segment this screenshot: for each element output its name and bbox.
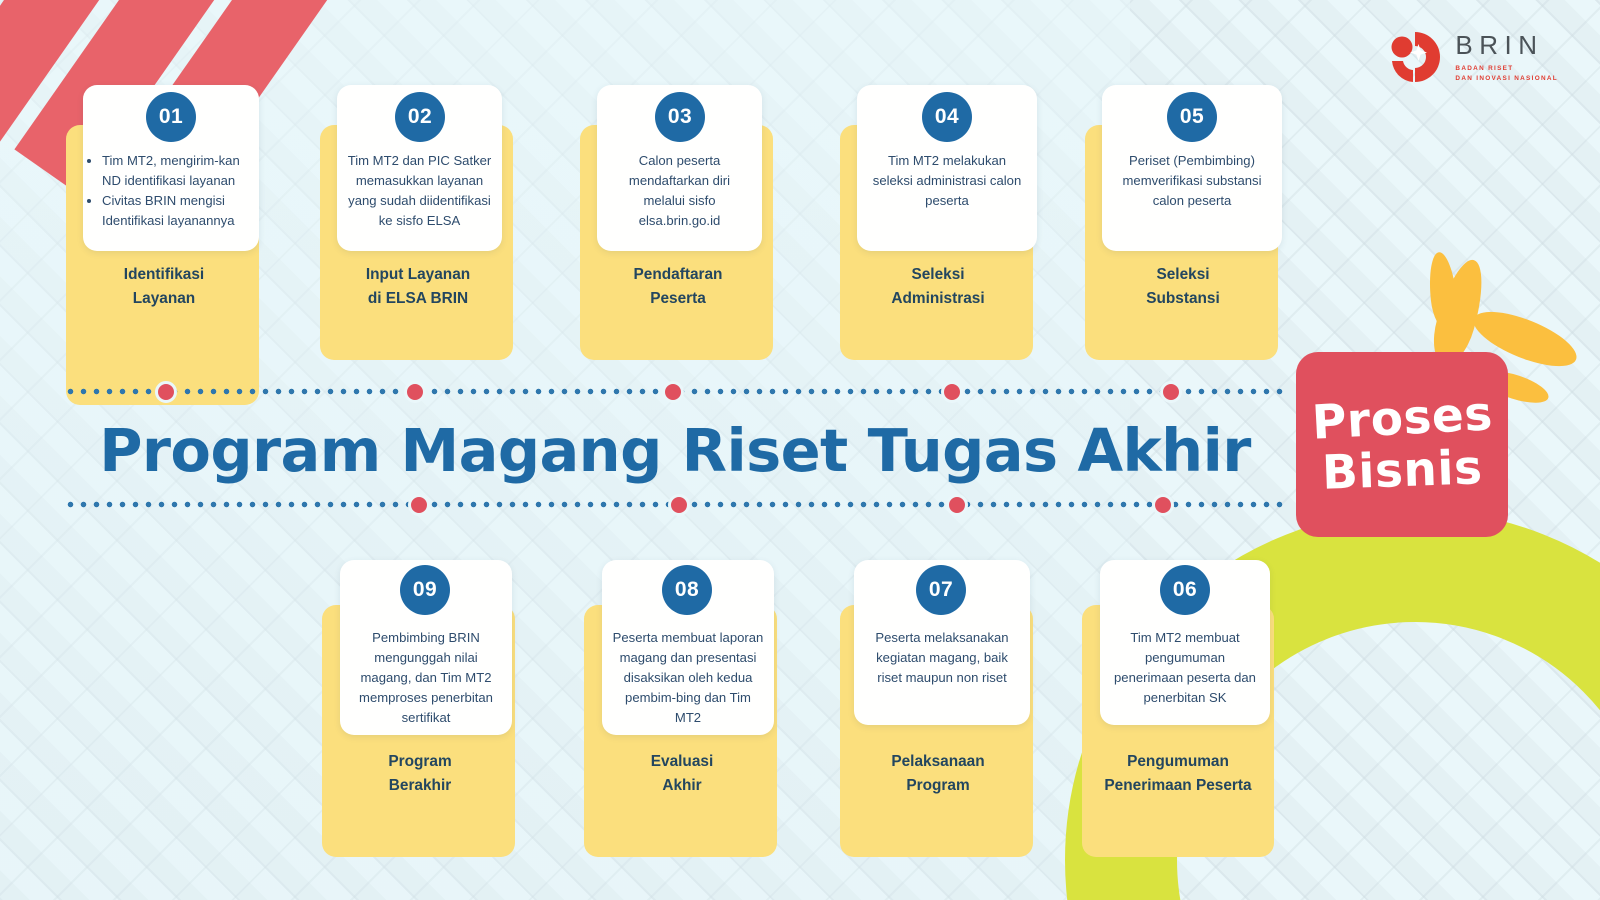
badge-line2: Bisnis (1321, 444, 1483, 498)
step-number-badge: 06 (1160, 565, 1210, 615)
step-title: Pendaftaran Peserta (580, 263, 776, 312)
step-description: Periset (Pembimbing) memverifikasi subst… (1102, 151, 1282, 211)
step-description: Tim MT2, mengirim-kan ND identifikasi la… (83, 151, 259, 231)
step-description: Peserta membuat laporan magang dan prese… (602, 628, 774, 727)
brin-tagline-line2: DAN INOVASI NASIONAL (1455, 74, 1558, 84)
step-title-line1: Program (322, 750, 518, 774)
step-title: Evaluasi Akhir (584, 750, 780, 799)
step-title-line1: Pelaksanaan (840, 750, 1036, 774)
step-title-line2: Penerimaan Peserta (1077, 774, 1279, 798)
step-description: Peserta melaksanakan kegiatan magang, ba… (854, 628, 1030, 688)
step-number-badge: 05 (1167, 92, 1217, 142)
step-description: Calon peserta mendaftarkan diri melalui … (597, 151, 762, 231)
main-title-wrapper: Program Magang Riset Tugas Akhir (60, 390, 1290, 500)
step-bullet: Tim MT2, mengirim-kan ND identifikasi la… (102, 151, 253, 191)
step-number-badge: 07 (916, 565, 966, 615)
step-description: Tim MT2 dan PIC Satker memasukkan layana… (337, 151, 502, 231)
brin-tagline-line1: BADAN RISET (1455, 64, 1558, 74)
step-number-badge: 01 (146, 92, 196, 142)
step-title-line2: Berakhir (322, 774, 518, 798)
step-description: Tim MT2 melakukan seleksi administrasi c… (857, 151, 1037, 211)
step-number-badge: 04 (922, 92, 972, 142)
step-bullet: Civitas BRIN mengisi Identifikasi layana… (102, 191, 253, 231)
step-title: Program Berakhir (322, 750, 518, 799)
step-number-badge: 03 (655, 92, 705, 142)
proses-bisnis-badge: Proses Bisnis (1296, 352, 1508, 537)
step-number-badge: 09 (400, 565, 450, 615)
step-title-line2: Program (840, 774, 1036, 798)
step-title: Seleksi Administrasi (840, 263, 1036, 312)
step-title: Pelaksanaan Program (840, 750, 1036, 799)
brin-logo: BRIN BADAN RISET DAN INOVASI NASIONAL (1388, 30, 1558, 84)
step-title-line2: Administrasi (840, 287, 1036, 311)
step-description: Tim MT2 membuat pengumuman penerimaan pe… (1100, 628, 1270, 708)
step-title-line2: di ELSA BRIN (320, 287, 516, 311)
step-title-line1: Identifikasi (66, 263, 262, 287)
step-title-line1: Pendaftaran (580, 263, 776, 287)
step-title: Identifikasi Layanan (66, 263, 262, 312)
step-number-badge: 02 (395, 92, 445, 142)
step-title-line1: Seleksi (1085, 263, 1281, 287)
step-title: Pengumuman Penerimaan Peserta (1077, 750, 1279, 799)
step-title-line1: Pengumuman (1077, 750, 1279, 774)
step-title: Input Layanan di ELSA BRIN (320, 263, 516, 312)
step-title-line2: Substansi (1085, 287, 1281, 311)
step-title: Seleksi Substansi (1085, 263, 1281, 312)
brin-mark-icon (1388, 30, 1442, 84)
brin-wordmark: BRIN BADAN RISET DAN INOVASI NASIONAL (1455, 30, 1558, 83)
step-description: Pembimbing BRIN mengunggah nilai magang,… (340, 628, 512, 727)
step-number-badge: 08 (662, 565, 712, 615)
infographic-canvas: BRIN BADAN RISET DAN INOVASI NASIONAL 01… (0, 0, 1600, 900)
step-title-line1: Input Layanan (320, 263, 516, 287)
brin-wordmark-text: BRIN (1455, 30, 1558, 61)
page-title: Program Magang Riset Tugas Akhir (60, 390, 1290, 485)
step-title-line2: Akhir (584, 774, 780, 798)
step-title-line2: Layanan (66, 287, 262, 311)
badge-line1: Proses (1310, 390, 1493, 447)
step-title-line1: Seleksi (840, 263, 1036, 287)
step-title-line1: Evaluasi (584, 750, 780, 774)
step-title-line2: Peserta (580, 287, 776, 311)
